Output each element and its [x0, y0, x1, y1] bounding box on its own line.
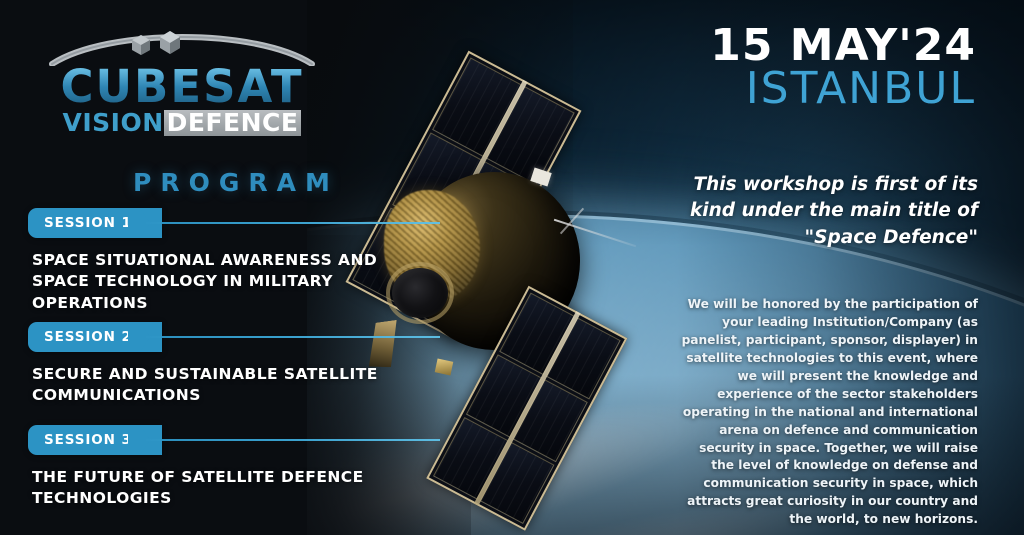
session-2-rule — [146, 336, 440, 338]
session-1-rule — [146, 222, 440, 224]
session-block-2: SESSION 2 SECURE AND SUSTAINABLE SATELLI… — [0, 322, 430, 407]
session-block-3: SESSION 3 THE FUTURE OF SATELLITE DEFENC… — [0, 425, 430, 510]
poster-canvas: CUBESAT VISION DEFENCE 15 MAY'24 ISTANBU… — [0, 0, 1024, 535]
satellite-arc-cubes-icon — [48, 30, 316, 66]
event-date-block: 15 MAY'24 ISTANBUL — [710, 24, 976, 112]
session-3-title: THE FUTURE OF SATELLITE DEFENCE TECHNOLO… — [32, 467, 430, 510]
event-date: 15 MAY'24 — [710, 24, 976, 68]
session-2-title: SECURE AND SUSTAINABLE SATELLITE COMMUNI… — [32, 364, 430, 407]
workshop-tagline: This workshop is first of its kind under… — [678, 172, 978, 251]
session-3-rule — [146, 439, 440, 441]
logo-primary-text: CUBESAT — [48, 66, 316, 109]
logo-defence-text: DEFENCE — [164, 110, 302, 136]
satellite-gold-module — [435, 358, 454, 375]
logo-vision-text: VISION — [63, 110, 164, 136]
session-1-title: SPACE SITUATIONAL AWARENESS AND SPACE TE… — [32, 250, 430, 314]
session-block-1: SESSION 1 SPACE SITUATIONAL AWARENESS AN… — [0, 208, 430, 314]
event-logo[interactable]: CUBESAT VISION DEFENCE — [48, 30, 316, 136]
event-city: ISTANBUL — [710, 66, 976, 112]
program-heading: PROGRAM — [133, 168, 339, 197]
workshop-description: We will be honored by the participation … — [678, 296, 978, 529]
